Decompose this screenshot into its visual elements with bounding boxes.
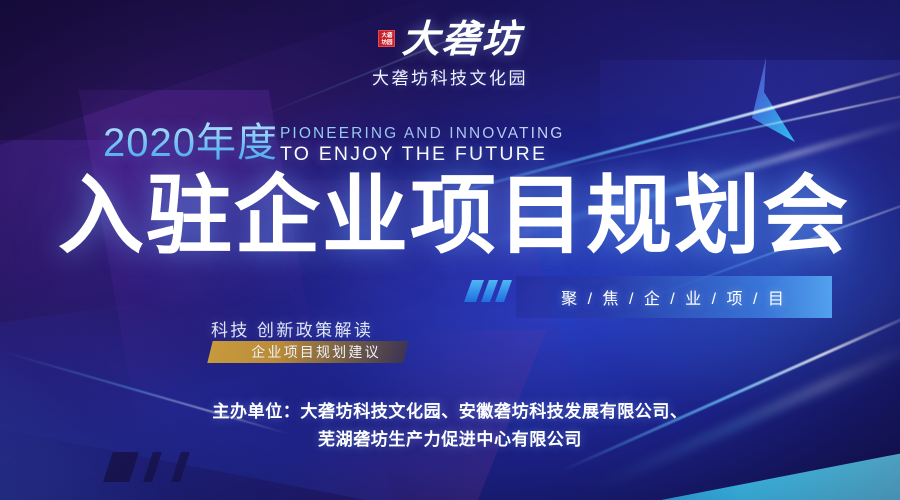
host-line-2: 芜湖砻坊生产力促进中心有限公司 — [0, 426, 900, 454]
year-label: 2020年度 — [103, 122, 278, 164]
brand-subtitle: 大砻坊科技文化园 — [0, 64, 900, 89]
subtitle-line-1: 科技 创新政策解读 — [211, 316, 373, 341]
english-slogan-line-2: TO ENJOY THE FUTURE — [280, 143, 564, 165]
brand-wordmark: 大砻坊 — [401, 18, 521, 60]
seal-line-1: 大砻 — [381, 32, 392, 38]
poster-content: 大砻 坊园 大砻坊 大砻坊科技文化园 2020年度 PIONEERING AND… — [0, 0, 900, 500]
main-title: 入驻企业项目规划会 — [58, 168, 850, 264]
slash-marks-icon — [468, 280, 508, 302]
brand-logo-block: 大砻 坊园 大砻坊 大砻坊科技文化园 — [0, 18, 900, 89]
gold-tag-label: 企业项目规划建议 — [224, 342, 408, 362]
focus-banner-text: 聚 / 焦 / 企 / 业 / 项 / 目 — [561, 285, 787, 309]
focus-banner: 聚 / 焦 / 企 / 业 / 项 / 目 — [516, 276, 832, 318]
host-organizations: 主办单位：大砻坊科技文化园、安徽砻坊科技发展有限公司、 芜湖砻坊生产力促进中心有… — [0, 398, 900, 454]
logo-row: 大砻 坊园 大砻坊 — [378, 18, 521, 60]
seal-line-2: 坊园 — [381, 39, 392, 45]
red-seal-icon: 大砻 坊园 — [378, 30, 395, 47]
slash-mark-3 — [495, 280, 512, 302]
host-line-1: 主办单位：大砻坊科技文化园、安徽砻坊科技发展有限公司、 — [0, 398, 900, 426]
event-poster: 大砻 坊园 大砻坊 大砻坊科技文化园 2020年度 PIONEERING AND… — [0, 0, 900, 500]
english-slogan-line-1: PIONEERING AND INNOVATING — [280, 125, 564, 143]
english-slogan: PIONEERING AND INNOVATING TO ENJOY THE F… — [280, 125, 564, 165]
headline-year-row: 2020年度 PIONEERING AND INNOVATING TO ENJO… — [103, 122, 564, 165]
